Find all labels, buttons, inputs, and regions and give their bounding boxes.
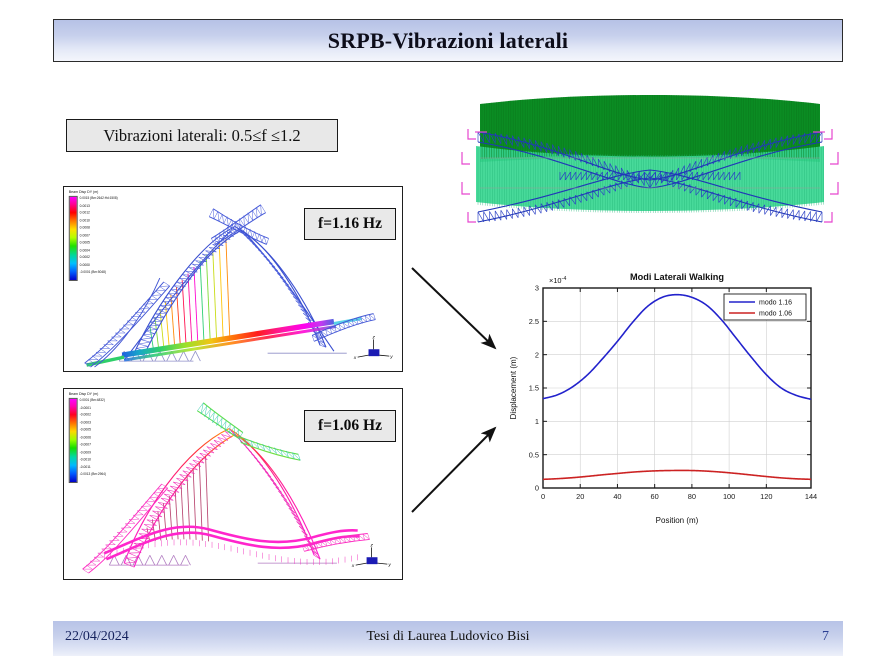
svg-text:1.5: 1.5	[529, 384, 539, 393]
svg-text:120: 120	[760, 492, 772, 501]
fem-116-tick: 0.0012	[80, 210, 118, 217]
fem-116-tick: 0.0008	[80, 225, 118, 232]
svg-text:0.5: 0.5	[529, 450, 539, 459]
svg-text:2: 2	[535, 350, 539, 359]
vibration-range-text: Vibrazioni laterali: 0.5≤f ≤1.2	[103, 126, 300, 146]
fem-panel-mode-106: Beam Disp DY (m) 0.0001 (Bm:4832) -0.000…	[63, 388, 403, 580]
chart-ylabel: Displacement (m)	[509, 356, 518, 419]
fem-106-colorbar-strip	[69, 398, 78, 483]
chart-legend-label-modo106: modo 1.06	[759, 311, 792, 318]
fem-106-colorbar-min: -0.0013 (Bm:2964)	[80, 471, 106, 478]
fem-106-colorbar-legend: Beam Disp DY (m) 0.0001 (Bm:4832) -0.000…	[69, 392, 106, 483]
fem-116-tick: 0.0004	[80, 247, 118, 254]
vibration-range-callout: Vibrazioni laterali: 0.5≤f ≤1.2	[66, 119, 338, 152]
chart-x-tick-labels: 020406080100120144	[541, 492, 817, 501]
fem-116-colorbar-legend: Beam Disp DY (m) 0.0015 (Bm:2642:Hd:1508…	[69, 190, 118, 281]
fem-106-tick: -0.0005	[80, 427, 106, 434]
svg-text:x: x	[353, 356, 357, 361]
fem-116-tick: 0.0005	[80, 239, 118, 246]
svg-text:20: 20	[576, 492, 584, 501]
fem-panel-mode-116: Beam Disp DY (m) 0.0015 (Bm:2642:Hd:1508…	[63, 186, 403, 372]
fem-106-tick: -0.0001	[80, 404, 106, 411]
slide-footer: 22/04/2024 Tesi di Laurea Ludovico Bisi …	[53, 621, 843, 656]
svg-text:1: 1	[535, 417, 539, 426]
chart-y-tick-labels: 00.511.522.53	[529, 284, 539, 493]
svg-text:80: 80	[688, 492, 696, 501]
slide-canvas: SRPB-Vibrazioni laterali Vibrazioni late…	[0, 0, 894, 671]
freq-label-116-text: f=1.16 Hz	[318, 215, 382, 233]
svg-text:2.5: 2.5	[529, 317, 539, 326]
arrow-from-mode116-to-chart	[412, 268, 495, 348]
fem-116-tick: 0.0000	[80, 262, 118, 269]
fem-106-tick: -0.0006	[80, 434, 106, 441]
fem-116-colorbar-strip	[69, 196, 78, 281]
fem-116-colorbar-ticks: 0.0015 (Bm:2642:Hd:1508) 0.0013 0.0012 0…	[80, 195, 118, 277]
freq-label-106-text: f=1.06 Hz	[318, 417, 382, 435]
svg-text:100: 100	[723, 492, 735, 501]
svg-text:0: 0	[535, 484, 539, 493]
fem-106-axis-triad-icon: z x y	[351, 543, 392, 569]
svg-text:40: 40	[613, 492, 621, 501]
chart-y-exponent: ×10-4	[549, 276, 566, 285]
fem-116-colorbar-min: -0.0001 (Bm:5048)	[80, 269, 118, 276]
fem-plan-hatch-top	[482, 94, 818, 164]
footer-center-text: Tesi di Laurea Ludovico Bisi	[53, 629, 843, 645]
freq-label-106: f=1.06 Hz	[304, 410, 396, 442]
chart-legend-label-modo116: modo 1.16	[759, 300, 792, 307]
svg-text:3: 3	[535, 284, 539, 293]
fem-106-tick: -0.0010	[80, 456, 106, 463]
svg-text:0: 0	[541, 492, 545, 501]
fem-116-colorbar-max: 0.0015 (Bm:2642:Hd:1508)	[80, 195, 118, 202]
fem-116-deck-main	[122, 322, 334, 356]
page-title: SRPB-Vibrazioni laterali	[328, 28, 568, 54]
fem-116-tick: 0.0002	[80, 254, 118, 261]
svg-text:60: 60	[651, 492, 659, 501]
svg-text:x: x	[351, 564, 355, 569]
fem-106-colorbar-ticks: 0.0001 (Bm:4832) -0.0001 -0.0002 -0.0003…	[80, 397, 106, 479]
fem-106-deck-wave	[104, 527, 359, 560]
footer-page-number: 7	[822, 629, 829, 645]
svg-text:y: y	[387, 563, 391, 568]
fem-106-tick: -0.0009	[80, 449, 106, 456]
fem-116-axis-triad-icon: z x y	[353, 335, 394, 361]
svg-text:z: z	[371, 335, 375, 340]
fem-106-tick: -0.0002	[80, 412, 106, 419]
svg-text:144: 144	[805, 492, 817, 501]
fem-116-top-crossing	[209, 205, 268, 245]
svg-text:z: z	[370, 543, 374, 548]
chart-legend: modo 1.16 modo 1.06	[724, 294, 806, 320]
slide-title-bar: SRPB-Vibrazioni laterali	[53, 19, 843, 62]
fem-106-tick: -0.0011	[80, 464, 106, 471]
fem-116-tick: 0.0007	[80, 232, 118, 239]
chart-svg: 020406080100120144 00.511.522.53 Modi La…	[505, 258, 840, 543]
fem-116-tick: 0.0013	[80, 202, 118, 209]
fem-106-tick: -0.0003	[80, 419, 106, 426]
fem-plan-view-mode-shape	[440, 84, 860, 256]
arrow-from-mode106-to-chart	[412, 428, 495, 512]
fem-106-colorbar-max: 0.0001 (Bm:4832)	[80, 397, 106, 404]
modal-shapes-chart: 020406080100120144 00.511.522.53 Modi La…	[505, 258, 840, 543]
fem-106-ground-supports	[109, 555, 337, 565]
fem-106-tick: -0.0007	[80, 441, 106, 448]
chart-title: Modi Laterali Walking	[630, 272, 724, 282]
svg-text:y: y	[389, 355, 393, 360]
fem-116-tick: 0.0010	[80, 217, 118, 224]
freq-label-116: f=1.16 Hz	[304, 208, 396, 240]
chart-xlabel: Position (m)	[656, 516, 699, 525]
